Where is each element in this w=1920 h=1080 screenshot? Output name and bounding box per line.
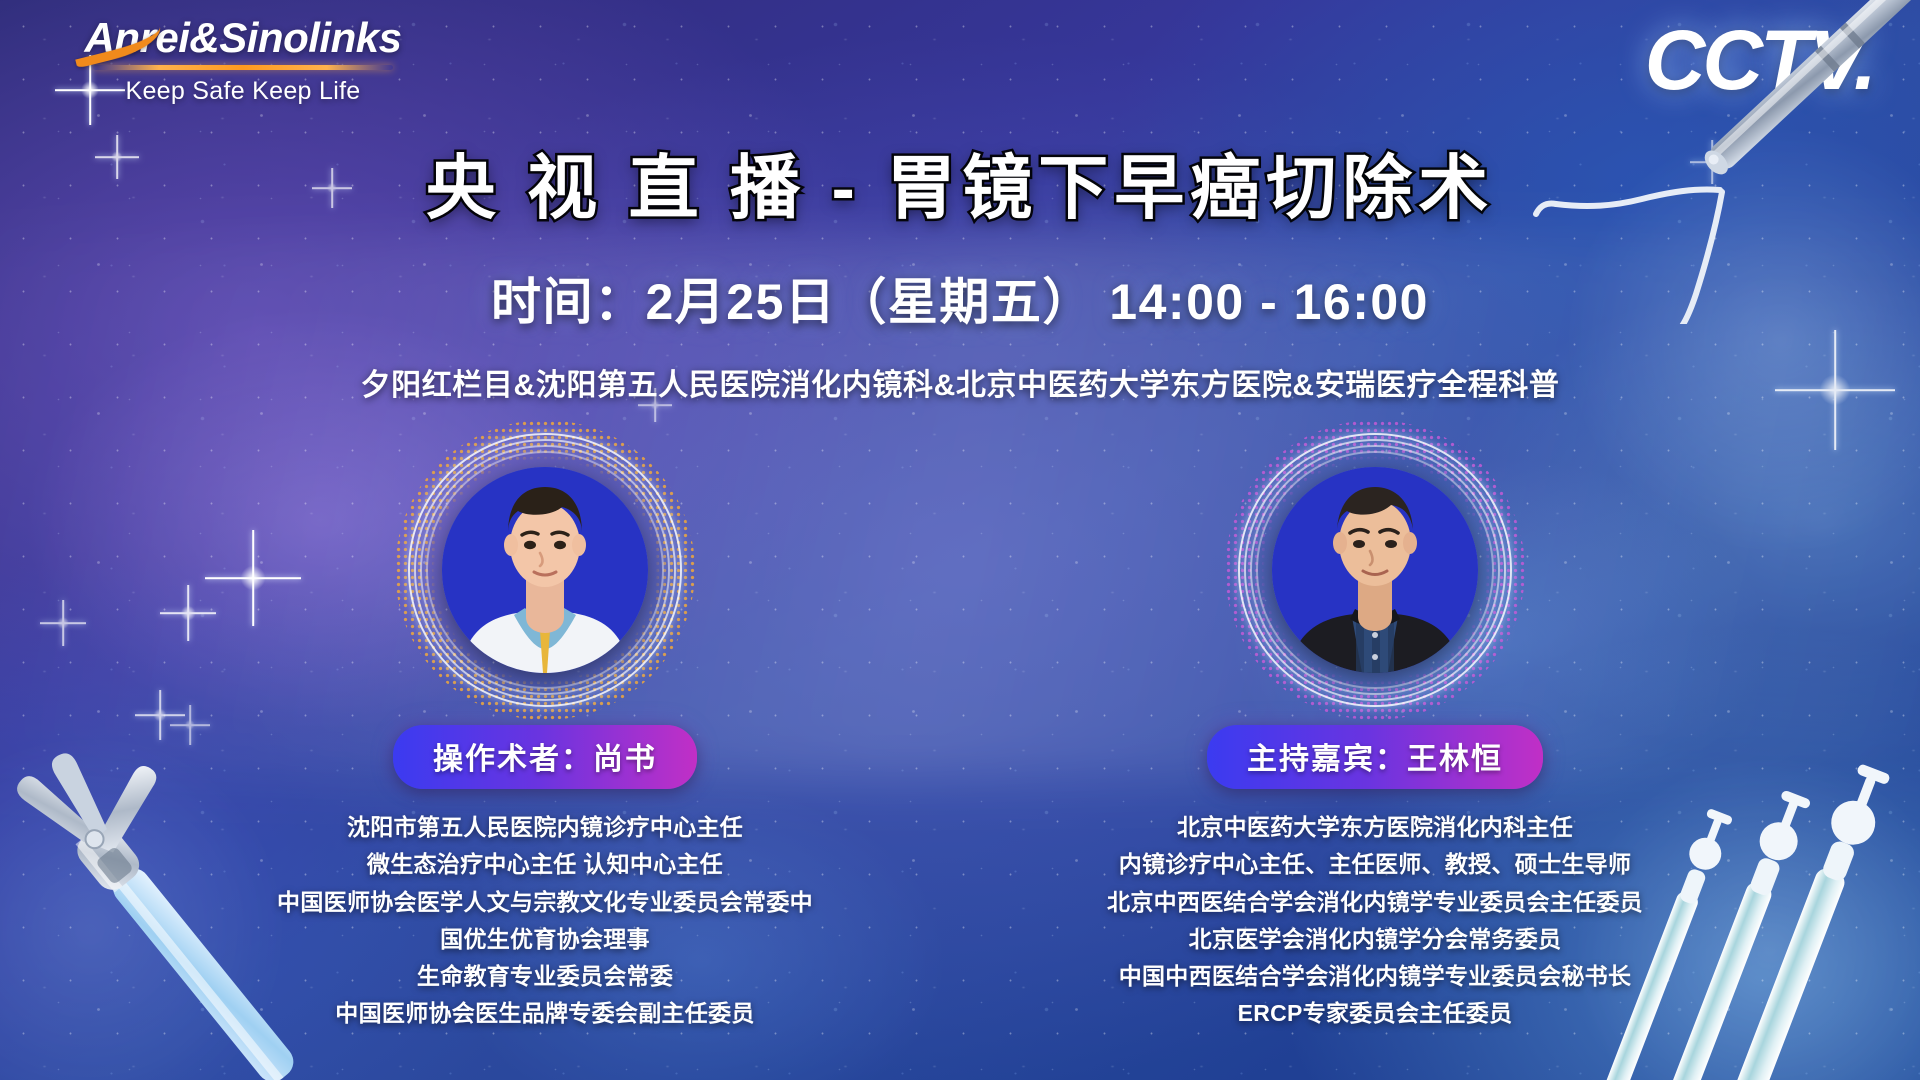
credential-item: 沈阳市第五人民医院内镜诊疗中心主任 xyxy=(195,809,895,846)
credential-item: 北京中西医结合学会消化内镜学专业委员会主任委员 xyxy=(1025,884,1725,921)
speaker-credentials: 北京中医药大学东方医院消化内科主任 内镜诊疗中心主任、主任医师、教授、硕士生导师… xyxy=(1025,809,1725,1033)
credential-item: 内镜诊疗中心主任、主任医师、教授、硕士生导师 xyxy=(1025,846,1725,883)
credential-item: 国优生优育协会理事 xyxy=(195,921,895,958)
partners-text: 夕阳红栏目&沈阳第五人民医院消化内镜科&北京中医药大学东方医院&安瑞医疗全程科普 xyxy=(0,360,1920,404)
brand-logo: Anrei&Sinolinks Keep Safe Keep Life xyxy=(78,16,408,106)
credential-item: 北京医学会消化内镜学分会常务委员 xyxy=(1025,921,1725,958)
credential-item: 中国医师协会医学人文与宗教文化专业委员会常委中 xyxy=(195,884,895,921)
avatar xyxy=(442,467,648,673)
credential-item: 微生态治疗中心主任 认知中心主任 xyxy=(195,846,895,883)
credential-item: ERCP专家委员会主任委员 xyxy=(1025,995,1725,1032)
portrait-host-icon xyxy=(1272,467,1478,673)
speaker-card-host: 主持嘉宾：王林恒 北京中医药大学东方医院消化内科主任 内镜诊疗中心主任、主任医师… xyxy=(1025,455,1725,1033)
speaker-card-operator: 操作术者：尚书 沈阳市第五人民医院内镜诊疗中心主任 微生态治疗中心主任 认知中心… xyxy=(195,455,895,1033)
brand-name: Anrei&Sinolinks xyxy=(78,16,408,60)
speaker-credentials: 沈阳市第五人民医院内镜诊疗中心主任 微生态治疗中心主任 认知中心主任 中国医师协… xyxy=(195,809,895,1033)
credential-item: 北京中医药大学东方医院消化内科主任 xyxy=(1025,809,1725,846)
avatar-halo xyxy=(430,455,660,685)
speaker-role-badge: 操作术者：尚书 xyxy=(393,725,697,789)
schedule-text: 时间：2月25日（星期五） 14:00 - 16:00 xyxy=(0,262,1920,334)
avatar xyxy=(1272,467,1478,673)
portrait-operator-icon xyxy=(442,467,648,673)
credential-item: 中国中西医结合学会消化内镜学专业委员会秘书长 xyxy=(1025,958,1725,995)
livestream-poster: Anrei&Sinolinks Keep Safe Keep Life CCTV… xyxy=(0,0,1920,1080)
speakers-section: 操作术者：尚书 沈阳市第五人民医院内镜诊疗中心主任 微生态治疗中心主任 认知中心… xyxy=(0,455,1920,1033)
cctv-logo: CCTV. xyxy=(1645,18,1874,102)
speaker-role-badge: 主持嘉宾：王林恒 xyxy=(1207,725,1543,789)
credential-item: 中国医师协会医生品牌专委会副主任委员 xyxy=(195,995,895,1032)
page-title: 央 视 直 播 - 胃镜下早癌切除术 xyxy=(0,132,1920,233)
brand-divider xyxy=(93,65,393,70)
avatar-halo xyxy=(1260,455,1490,685)
brand-tagline: Keep Safe Keep Life xyxy=(78,77,408,106)
credential-item: 生命教育专业委员会常委 xyxy=(195,958,895,995)
